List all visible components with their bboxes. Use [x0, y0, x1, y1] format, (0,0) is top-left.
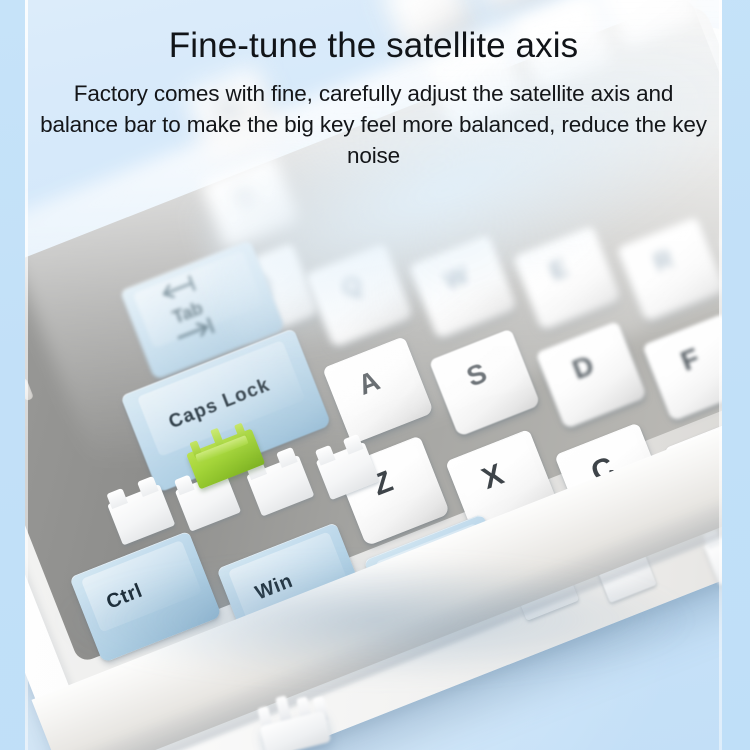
product-image-stage: Q Q Q [0, 0, 750, 750]
panel-left-edge [25, 0, 28, 750]
marketing-copy: Fine-tune the satellite axis Factory com… [25, 0, 722, 171]
page-title: Fine-tune the satellite axis [33, 26, 714, 66]
content-panel: Q Q Q [25, 0, 722, 750]
desk-shadow [55, 560, 695, 680]
page-description: Factory comes with fine, carefully adjus… [33, 78, 714, 171]
panel-right-edge [719, 0, 722, 750]
